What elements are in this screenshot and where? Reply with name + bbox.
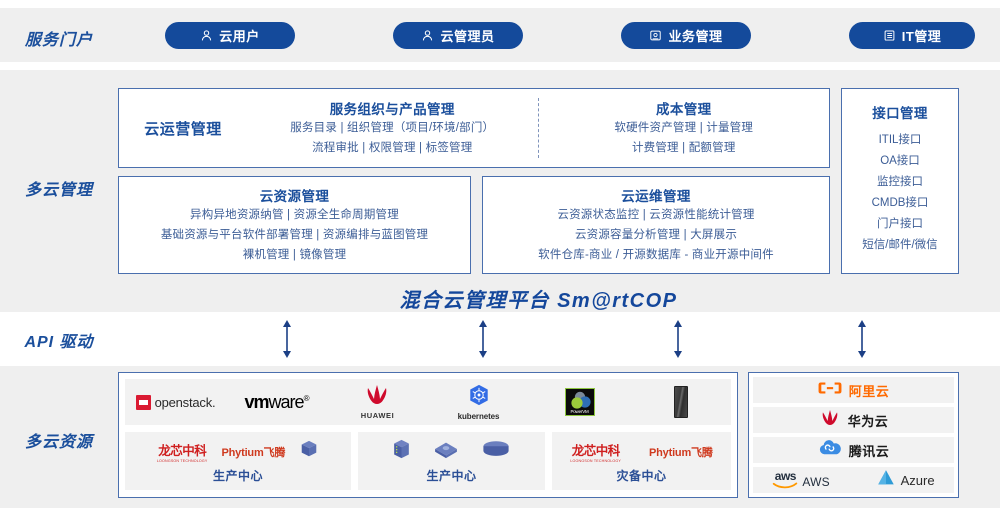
- interface-item-monitor[interactable]: 监控接口: [877, 172, 923, 193]
- api-driven-band: [0, 318, 1000, 360]
- portal-pill-business-mgmt[interactable]: 业务管理: [621, 22, 751, 49]
- alicloud-icon: [818, 380, 842, 401]
- server-stack-icon: [299, 439, 319, 464]
- data-center-name: 生产中心: [426, 467, 476, 484]
- interface-item-itil[interactable]: ITIL接口: [879, 130, 922, 151]
- public-cloud-label: 华为云: [848, 411, 889, 430]
- hypervisor-logo-row: openstack. vmware® HUAWEI: [125, 379, 731, 425]
- card-line: 软件仓库-商业 / 开源数据库 - 商业开源中间件: [483, 246, 829, 265]
- segment-title: 服务组织与产品管理: [253, 98, 532, 118]
- public-cloud-huaweicloud[interactable]: 华为云: [753, 407, 954, 433]
- logo-powervm[interactable]: PowerVM: [529, 388, 630, 416]
- portal-pill-cloud-user[interactable]: 云用户: [165, 22, 295, 49]
- segment-cost-management: 成本管理 软硬件资产管理 | 计量管理 计费管理 | 配额管理: [538, 98, 830, 158]
- logo-label: openstack.: [155, 395, 216, 410]
- segment-title: 成本管理: [545, 98, 824, 118]
- logo-kubernetes[interactable]: kubernetes: [428, 384, 529, 421]
- data-center-production-2[interactable]: 生产中心: [358, 432, 545, 490]
- kubernetes-helm-icon: [468, 384, 490, 411]
- data-center-row: 龙芯中科 LOONGSON TECHNOLOGY Phytium飞腾 生产中心: [125, 432, 731, 490]
- public-cloud-alicloud[interactable]: 阿里云: [753, 377, 954, 403]
- segment-line: 计费管理 | 配额管理: [545, 139, 824, 158]
- server-stack-icon: [392, 438, 411, 465]
- card-title: 云运维管理: [483, 185, 829, 205]
- loongson-icon: 龙芯中科 LOONGSON TECHNOLOGY: [157, 440, 208, 463]
- bidirectional-arrow: [856, 320, 868, 363]
- portal-pill-it-mgmt[interactable]: IT管理: [849, 22, 975, 49]
- portal-pill-label: 业务管理: [668, 26, 722, 45]
- card-line: 云资源容量分析管理 | 大屏展示: [483, 226, 829, 245]
- public-cloud-tencentcloud[interactable]: 腾讯云: [753, 437, 954, 463]
- platform-title: 混合云管理平台 Sm@rtCOP: [118, 284, 959, 313]
- card-line: 基础资源与平台软件部署管理 | 资源编排与蓝图管理: [119, 226, 470, 245]
- card-title: 接口管理: [872, 102, 928, 122]
- interface-item-cmdb[interactable]: CMDB接口: [872, 193, 929, 214]
- phytium-icon: Phytium飞腾: [649, 444, 713, 460]
- private-cloud-resource-panel[interactable]: openstack. vmware® HUAWEI: [118, 372, 738, 498]
- interface-item-portal[interactable]: 门户接口: [877, 214, 923, 235]
- storage-disk-icon: [481, 440, 511, 463]
- segment-line: 服务目录 | 组织管理（项目/环境/部门）: [253, 119, 532, 138]
- user-icon: [200, 29, 213, 42]
- segment-service-product-management: 服务组织与产品管理 服务目录 | 组织管理（项目/环境/部门） 流程审批 | 权…: [247, 98, 538, 158]
- business-window-icon: [649, 29, 662, 42]
- card-interface-management[interactable]: 接口管理 ITIL接口 OA接口 监控接口 CMDB接口 门户接口 短信/邮件/…: [841, 88, 959, 274]
- interface-item-message[interactable]: 短信/邮件/微信: [862, 235, 937, 256]
- portal-pill-cloud-admin[interactable]: 云管理员: [393, 22, 523, 49]
- server-rack-icon: [674, 386, 688, 418]
- card-side-label: 云运营管理: [119, 118, 247, 139]
- aws-icon: aws: [772, 471, 798, 489]
- logo-vmware[interactable]: vmware®: [226, 392, 327, 413]
- public-cloud-label: 腾讯云: [849, 441, 890, 460]
- segment-line: 流程审批 | 权限管理 | 标签管理: [253, 139, 532, 158]
- huaweicloud-icon: [819, 409, 841, 431]
- loongson-icon: 龙芯中科 LOONGSON TECHNOLOGY: [570, 440, 621, 463]
- card-line: 裸机管理 | 镜像管理: [119, 246, 470, 265]
- public-cloud-panel[interactable]: 阿里云 华为云 腾讯云 aws: [748, 372, 959, 498]
- logo-huawei[interactable]: HUAWEI: [327, 384, 428, 420]
- user-admin-icon: [421, 29, 434, 42]
- portal-pill-label: IT管理: [902, 26, 942, 45]
- data-center-name: 生产中心: [213, 467, 263, 484]
- chip-label-en: LOONGSON TECHNOLOGY: [157, 459, 208, 463]
- network-switch-icon: [433, 439, 459, 464]
- chip-label-en: LOONGSON TECHNOLOGY: [570, 459, 621, 463]
- data-center-disaster-recovery[interactable]: 龙芯中科 LOONGSON TECHNOLOGY Phytium飞腾 灾备中心: [552, 432, 731, 490]
- bidirectional-arrow: [477, 320, 489, 363]
- row-label-multi-cloud-resource: 多云资源: [0, 428, 118, 452]
- card-cloud-operation-management[interactable]: 云运营管理 服务组织与产品管理 服务目录 | 组织管理（项目/环境/部门） 流程…: [118, 88, 830, 168]
- row-label-service-portal: 服务门户: [0, 26, 118, 50]
- tencentcloud-icon: [818, 439, 842, 461]
- openstack-icon: [136, 395, 151, 410]
- public-cloud-aws[interactable]: aws AWS: [772, 471, 830, 489]
- azure-icon: [876, 469, 896, 491]
- data-center-name: 灾备中心: [616, 467, 666, 484]
- row-label-api-driven: API 驱动: [0, 328, 118, 352]
- segment-line: 软硬件资产管理 | 计量管理: [545, 119, 824, 138]
- it-list-icon: [883, 29, 896, 42]
- portal-pill-label: 云管理员: [440, 26, 494, 45]
- bidirectional-arrow: [672, 320, 684, 363]
- card-title: 云资源管理: [119, 185, 470, 205]
- card-line: 异构异地资源纳管 | 资源全生命周期管理: [119, 206, 470, 225]
- public-cloud-azure[interactable]: Azure: [876, 469, 935, 491]
- huawei-flower-icon: [363, 384, 391, 410]
- bidirectional-arrow: [281, 320, 293, 363]
- card-line: 云资源状态监控 | 云资源性能统计管理: [483, 206, 829, 225]
- public-cloud-aws-azure-row: aws AWS Azure: [753, 467, 954, 493]
- interface-item-oa[interactable]: OA接口: [880, 151, 920, 172]
- portal-pill-label: 云用户: [219, 26, 260, 45]
- powervm-icon: PowerVM: [565, 388, 595, 416]
- card-cloud-operations-maintenance[interactable]: 云运维管理 云资源状态监控 | 云资源性能统计管理 云资源容量分析管理 | 大屏…: [482, 176, 830, 274]
- vmware-icon: vmware®: [245, 392, 309, 413]
- logo-openstack[interactable]: openstack.: [125, 395, 226, 410]
- data-center-production-1[interactable]: 龙芯中科 LOONGSON TECHNOLOGY Phytium飞腾 生产中心: [125, 432, 351, 490]
- phytium-icon: Phytium飞腾: [222, 444, 286, 460]
- logo-label: PowerVM: [566, 409, 594, 414]
- logo-label: kubernetes: [458, 412, 500, 421]
- chip-label: 龙芯中科: [158, 440, 206, 459]
- public-cloud-label: AWS: [802, 475, 830, 489]
- logo-label: HUAWEI: [361, 411, 395, 420]
- card-cloud-resource-management[interactable]: 云资源管理 异构异地资源纳管 | 资源全生命周期管理 基础资源与平台软件部署管理…: [118, 176, 471, 274]
- logo-server-rack[interactable]: [630, 386, 731, 418]
- public-cloud-label: Azure: [901, 473, 935, 488]
- chip-label: 龙芯中科: [572, 440, 620, 459]
- public-cloud-label: 阿里云: [849, 381, 890, 400]
- row-label-multi-cloud-management: 多云管理: [0, 176, 118, 200]
